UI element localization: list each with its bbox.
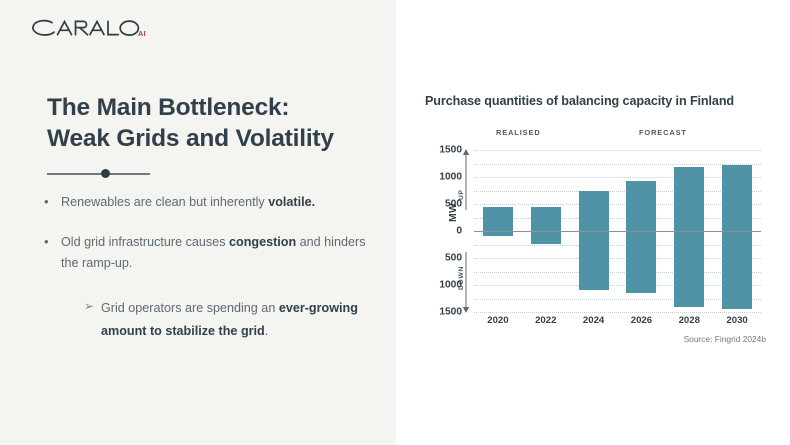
bullet-marker-icon: • <box>40 192 61 212</box>
slide: AI The Main Bottleneck: Weak Grids and V… <box>0 0 790 445</box>
chart-gridline <box>474 204 761 205</box>
bullet-marker-icon: • <box>40 232 61 273</box>
y-tick-0-3: 0 <box>422 226 462 237</box>
divider-knob-icon <box>101 169 110 178</box>
chart-title: Purchase quantities of balancing capacit… <box>425 94 785 108</box>
chart-gridline <box>474 272 761 273</box>
chart-gridline <box>474 164 761 165</box>
page-title: The Main Bottleneck: Weak Grids and Vola… <box>47 93 377 155</box>
y-tick-1500-0: 1500 <box>422 145 462 156</box>
y-tick-1500-6: 1500 <box>422 307 462 318</box>
bullet-item: •Old grid infrastructure causes congesti… <box>40 232 385 273</box>
bar-chart-plot-area <box>474 150 761 312</box>
chart-gridline <box>474 245 761 246</box>
y-tick-500-4: 500 <box>422 253 462 264</box>
left-content-panel: AI The Main Bottleneck: Weak Grids and V… <box>0 0 396 445</box>
bar-2024 <box>579 191 609 291</box>
y-axis-tick-labels: 15001000500050010001500 <box>422 150 462 312</box>
chart-gridline <box>474 258 761 259</box>
chart-gridline <box>474 191 761 192</box>
bullet-item: •Renewables are clean but inherently vol… <box>40 192 385 212</box>
sub-bullet-item: ➢Grid operators are spending an ever-gro… <box>80 297 385 344</box>
chart-gridline <box>474 285 761 286</box>
x-tick-2022: 2022 <box>526 315 566 326</box>
y-tick-1000-1: 1000 <box>422 172 462 183</box>
chart-gridline <box>474 312 761 313</box>
chart-gridline <box>474 150 761 151</box>
y-tick-1000-5: 1000 <box>422 280 462 291</box>
headline-line-1: The Main Bottleneck: <box>47 94 289 121</box>
headline-line-2: Weak Grids and Volatility <box>47 124 377 155</box>
bullet-list: •Renewables are clean but inherently vol… <box>40 192 385 364</box>
phase-label-forecast: FORECAST <box>639 128 687 137</box>
chart-gridline <box>474 218 761 219</box>
chart-panel: Purchase quantities of balancing capacit… <box>396 0 790 445</box>
bar-2030 <box>722 165 752 309</box>
x-axis-tick-labels: 202020222024202620282030 <box>474 315 761 331</box>
x-tick-2028: 2028 <box>669 315 709 326</box>
bar-2022 <box>531 207 561 245</box>
x-tick-2030: 2030 <box>717 315 757 326</box>
slider-divider <box>47 168 150 180</box>
chart-source: Source: Fingrid 2024b <box>684 334 766 344</box>
y-tick-500-2: 500 <box>422 199 462 210</box>
divider-line <box>47 173 150 175</box>
chart-zero-line <box>474 231 761 232</box>
sub-bullet-marker-icon: ➢ <box>80 297 101 344</box>
bar-2026 <box>626 181 656 293</box>
svg-text:AI: AI <box>138 29 146 38</box>
x-tick-2020: 2020 <box>478 315 518 326</box>
phase-label-realised: REALISED <box>496 128 541 137</box>
bar-2028 <box>674 167 704 306</box>
chart-gridline <box>474 177 761 178</box>
chart-gridline <box>474 299 761 300</box>
x-tick-2026: 2026 <box>621 315 661 326</box>
bullet-text: Renewables are clean but inherently vola… <box>61 192 385 212</box>
bullet-text: Grid operators are spending an ever-grow… <box>101 297 385 344</box>
bullet-text: Old grid infrastructure causes congestio… <box>61 232 385 273</box>
x-tick-2024: 2024 <box>574 315 614 326</box>
capalo-ai-logo: AI <box>30 16 150 42</box>
